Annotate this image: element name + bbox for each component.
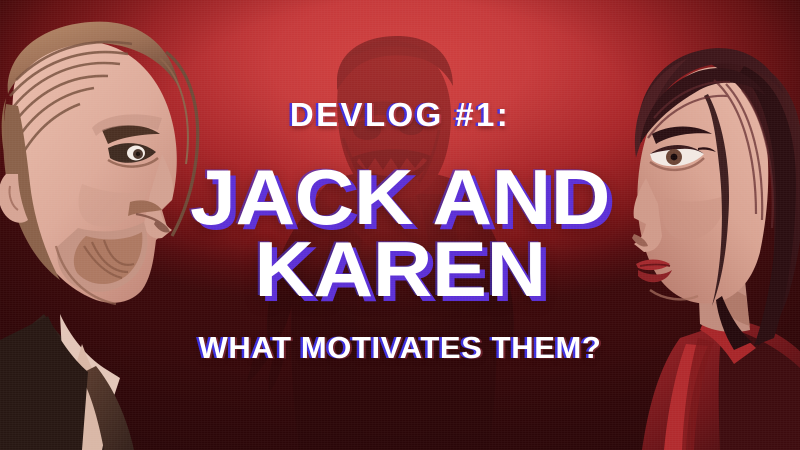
devlog-banner: DEVLOG #1: JACK AND KAREN WHAT MOTIVATES…: [0, 0, 800, 450]
film-grain-overlay: [0, 0, 800, 450]
